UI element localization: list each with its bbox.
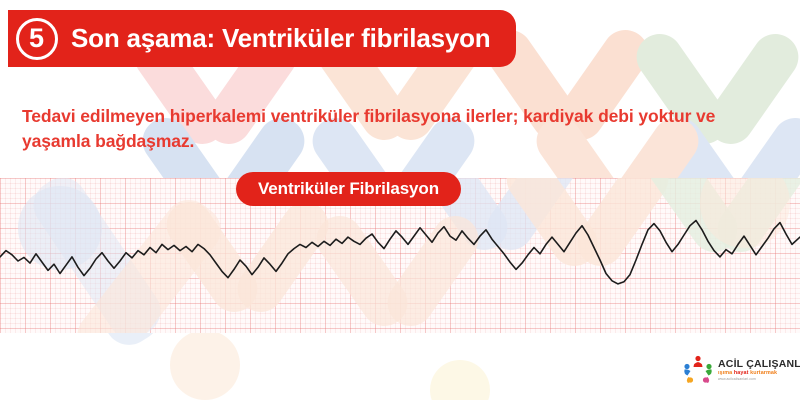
brand-logo: ACİL ÇALIŞANLARI ışıma hayat kurtarmak w… [682, 352, 790, 388]
body-paragraph: Tedavi edilmeyen hiperkalemi ventriküler… [22, 104, 784, 154]
bg-circle-yellow-bottom [430, 360, 490, 400]
logo-tagline-part1: ışıma [718, 370, 732, 376]
step-number-badge: 5 [8, 10, 65, 67]
logo-tagline: ışıma hayat kurtarmak [718, 371, 800, 376]
logo-tagline-part2: kurtarmak [750, 370, 777, 376]
logo-url: www.acilcalisanlari.com [718, 378, 800, 381]
bg-circle-peach-bottom [170, 330, 240, 400]
logo-tagline-highlight: hayat [734, 370, 749, 376]
page-title: Son aşama: Ventriküler fibrilasyon [71, 23, 490, 54]
header-bar: 5 Son aşama: Ventriküler fibrilasyon [8, 10, 516, 67]
logo-wordmark: ACİL ÇALIŞANLARI ışıma hayat kurtarmak w… [718, 359, 800, 382]
people-pinwheel-icon [682, 354, 714, 386]
logo-name: ACİL ÇALIŞANLARI [718, 359, 800, 370]
step-number: 5 [16, 18, 58, 60]
slide-root: 5 Son aşama: Ventriküler fibrilasyon Ted… [0, 0, 800, 400]
rhythm-label-badge: Ventriküler Fibrilasyon [236, 172, 461, 206]
